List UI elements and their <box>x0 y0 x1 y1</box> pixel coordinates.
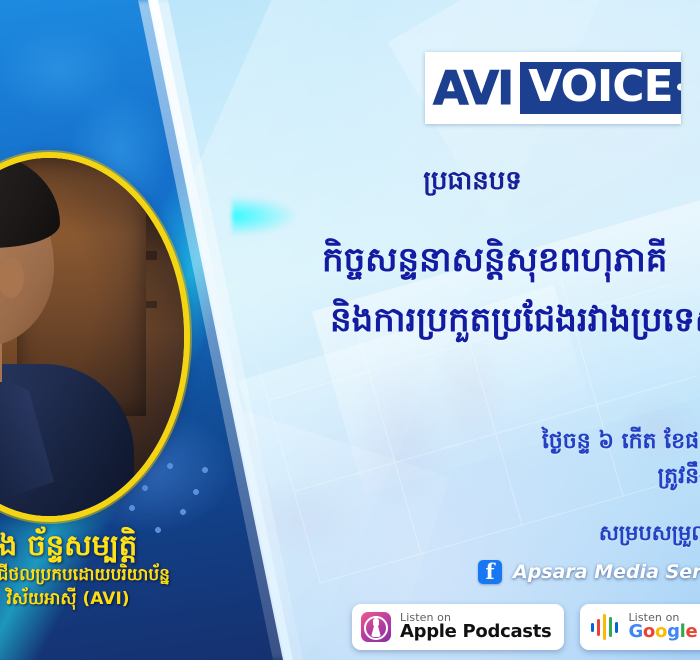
logo-voice-text: VOICE <box>528 65 672 109</box>
speaker-info-block: ង ច័ន្ទសម្បត្តិ ិត្តួឌីជីថលប្រកបដោយបរិយា… <box>0 528 268 610</box>
avi-voice-logo: AVI VOICE <box>425 52 681 124</box>
cyan-glow-streak <box>232 196 296 236</box>
apple-badge-title: Apple Podcasts <box>400 623 551 642</box>
program-title-line-2: និងការប្រកួតប្រជែងរវាងប្រទេស <box>330 298 700 348</box>
speaker-role-line-1: ិត្តួឌីជីថលប្រកបដោយបរិយាប័ន្ន <box>0 564 268 586</box>
program-title-line-1: កិច្ចសន្ទនាសន្តិសុខពហុភាគី <box>322 238 667 288</box>
facebook-icon[interactable] <box>478 560 502 584</box>
apple-podcasts-icon <box>361 612 391 642</box>
facebook-page-name: Apsara Media Services <box>513 561 700 583</box>
logo-voice-box: VOICE <box>520 62 681 114</box>
google-podcasts-badge[interactable]: Listen on Google Podcasts <box>580 604 700 650</box>
broadcast-date-line-2: ត្រូវនឹងថ្ងៃ <box>542 459 700 494</box>
google-podcasts-icon <box>589 613 619 641</box>
apple-podcasts-badge[interactable]: Listen on Apple Podcasts <box>352 604 564 650</box>
speaker-portrait-frame <box>0 152 190 522</box>
topic-label: ប្រធានបទ <box>0 164 700 202</box>
broadcast-date-block: ថ្ងៃចន្ទ ៦ កើត ខែផល្គុន ត្រូវនឹងថ្ងៃ <box>542 424 700 494</box>
logo-avi-text: AVI <box>433 65 518 111</box>
sound-wave-icon <box>678 70 681 104</box>
google-wordmark: Google <box>628 621 697 642</box>
google-badge-title: Google Podcasts <box>628 623 700 642</box>
speaker-portrait <box>0 152 190 522</box>
speaker-role-line-2: វិស័យអាស៊ី (AVI) <box>0 588 268 610</box>
podcast-badges: Listen on Apple Podcasts Listen on Googl… <box>352 604 700 650</box>
speaker-name: ង ច័ន្ទសម្បត្តិ <box>0 528 268 562</box>
broadcast-date-line-1: ថ្ងៃចន្ទ ៦ កើត ខែផល្គុន <box>542 424 700 459</box>
facebook-attribution[interactable]: Apsara Media Services <box>478 560 700 584</box>
portrait-vignette <box>0 158 184 516</box>
broadcast-title-card: យស ង ច័ន្ទសម្បត្តិ ិត្តួឌីជីថលប្រកបដោយបរ… <box>0 0 700 660</box>
production-credit: សម្របសម្រួលកម្មវិធី <box>599 520 700 551</box>
